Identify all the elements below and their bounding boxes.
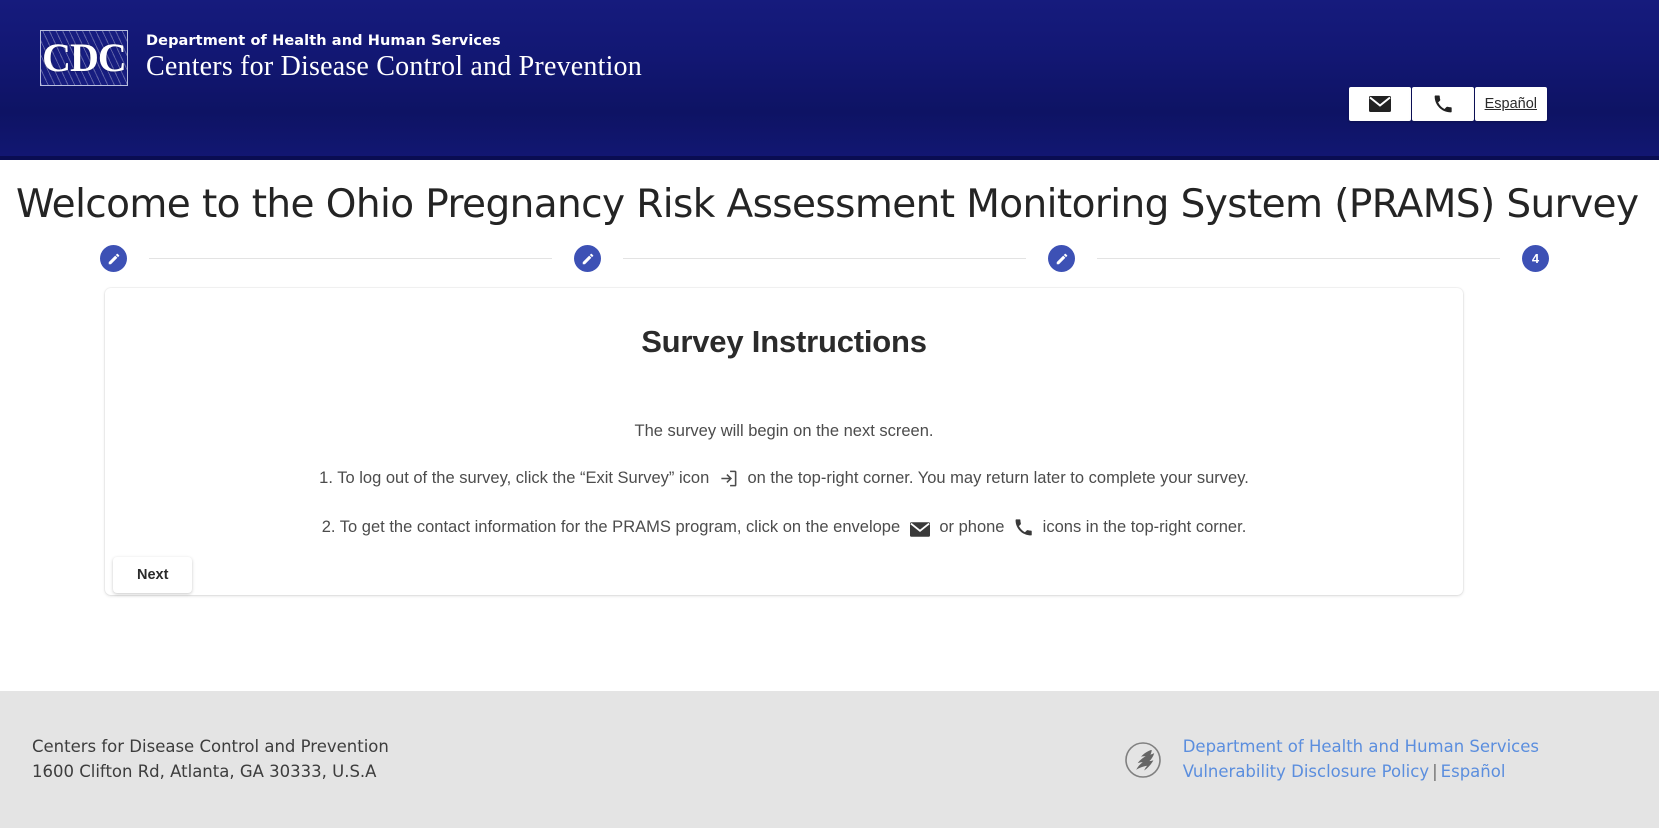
language-button[interactable]: Español [1475, 87, 1547, 121]
footer-link-separator: | [1432, 762, 1438, 781]
next-button[interactable]: Next [113, 557, 192, 593]
stepper-step-1[interactable] [100, 245, 127, 272]
instruction-item-1: 1. To log out of the survey, click the “… [129, 467, 1439, 494]
instruction-1-text-after: on the top-right corner. You may return … [747, 469, 1248, 487]
email-button[interactable] [1349, 87, 1411, 121]
footer-link-row-1: Department of Health and Human Services [1183, 735, 1539, 760]
footer-links-block: Department of Health and Human Services … [1121, 735, 1627, 785]
footer-address-line: 1600 Clifton Rd, Atlanta, GA 30333, U.S.… [32, 760, 389, 785]
instruction-1-text-before: To log out of the survey, click the “Exi… [337, 469, 709, 487]
pencil-icon [1055, 252, 1069, 266]
stepper-connector-2 [623, 258, 1026, 259]
progress-stepper: 4 [100, 245, 1549, 272]
phone-button[interactable] [1412, 87, 1474, 121]
phone-icon [1433, 94, 1453, 114]
instruction-item-2: 2. To get the contact information for th… [129, 516, 1439, 543]
footer-link-hhs[interactable]: Department of Health and Human Services [1183, 737, 1539, 756]
brand-org-line: Centers for Disease Control and Preventi… [146, 52, 642, 83]
site-header: CDC Department of Health and Human Servi… [0, 0, 1659, 160]
exit-survey-icon [719, 469, 738, 494]
envelope-icon [910, 521, 930, 543]
instruction-1-number: 1. [319, 469, 333, 487]
cdc-logo-icon: CDC [40, 30, 128, 86]
footer-link-vdp[interactable]: Vulnerability Disclosure Policy [1183, 762, 1429, 781]
language-button-label: Español [1485, 96, 1537, 112]
cdc-brand[interactable]: CDC Department of Health and Human Servi… [40, 30, 642, 86]
header-actions: Español [1349, 87, 1547, 121]
pencil-icon [107, 252, 121, 266]
instruction-2-text-after: or phone [939, 518, 1004, 536]
instruction-2-text-end: icons in the top-right corner. [1043, 518, 1247, 536]
stepper-step-3[interactable] [1048, 245, 1075, 272]
footer-links: Department of Health and Human Services … [1183, 735, 1539, 785]
footer-link-row-2: Vulnerability Disclosure Policy|Español [1183, 760, 1539, 785]
phone-icon [1014, 518, 1033, 543]
envelope-icon [1369, 96, 1391, 112]
brand-agency-line: Department of Health and Human Services [146, 33, 642, 49]
stepper-connector-3 [1097, 258, 1500, 259]
card-title: Survey Instructions [129, 324, 1439, 360]
instruction-2-text-before: To get the contact information for the P… [340, 518, 900, 536]
instructions-card: Survey Instructions The survey will begi… [105, 288, 1463, 595]
brand-text-block: Department of Health and Human Services … [146, 33, 642, 83]
instruction-2-number: 2. [322, 518, 336, 536]
footer-link-espanol[interactable]: Español [1441, 762, 1506, 781]
stepper-step-4-label: 4 [1532, 251, 1539, 266]
intro-text: The survey will begin on the next screen… [129, 422, 1439, 441]
stepper-step-2[interactable] [574, 245, 601, 272]
site-footer: Centers for Disease Control and Preventi… [0, 691, 1659, 828]
stepper-step-4[interactable]: 4 [1522, 245, 1549, 272]
page-title: Welcome to the Ohio Pregnancy Risk Asses… [0, 160, 1659, 237]
hhs-eagle-icon [1121, 738, 1169, 782]
footer-org-name: Centers for Disease Control and Preventi… [32, 735, 389, 760]
pencil-icon [581, 252, 595, 266]
instructions-list: 1. To log out of the survey, click the “… [129, 467, 1439, 544]
stepper-connector-1 [149, 258, 552, 259]
footer-address-block: Centers for Disease Control and Preventi… [32, 735, 389, 785]
cdc-logo-text: CDC [41, 31, 127, 85]
